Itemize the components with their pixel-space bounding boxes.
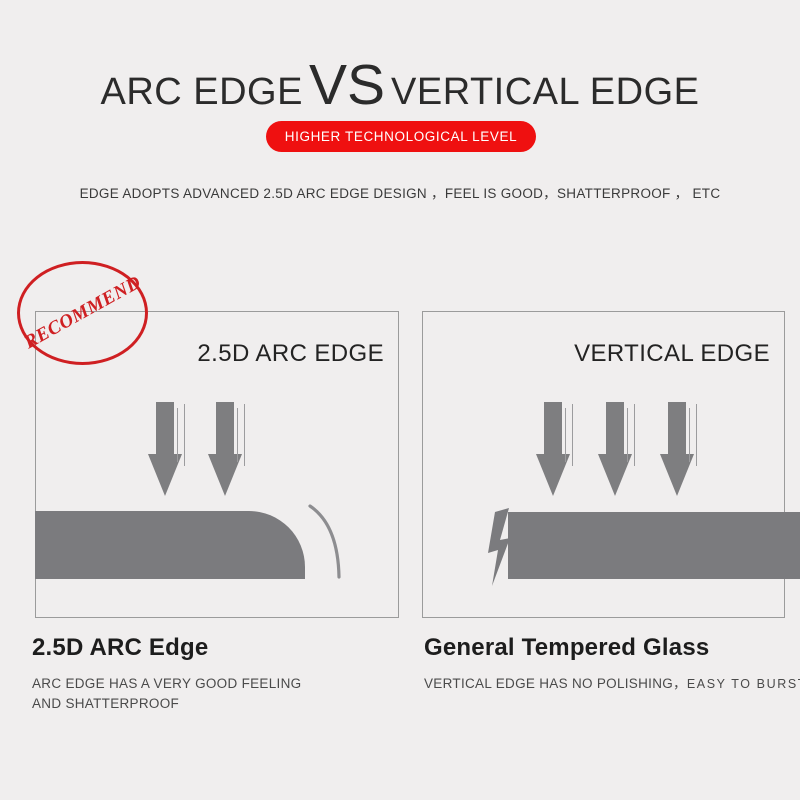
infographic-canvas: ARC EDGEVSVERTICAL EDGE HIGHER TECHNOLOG… [0, 0, 800, 800]
subtitle-text: EDGE ADOPTS ADVANCED 2.5D ARC EDGE DESIG… [0, 182, 800, 202]
caption-tempered-glass-title: General Tempered Glass [424, 634, 800, 662]
caption-tempered-glass-description: VERTICAL EDGE HAS NO POLISHING，EASY TO B… [424, 674, 800, 694]
recommend-stamp: RECOMMEND [17, 261, 148, 365]
page-title: ARC EDGEVSVERTICAL EDGE [0, 52, 800, 118]
shattered-shard-icon [482, 506, 522, 588]
status-badge-label: HIGHER TECHNOLOGICAL LEVEL [285, 129, 517, 144]
caption-tempered-glass-line2: EASY TO BURST [687, 677, 800, 691]
panel-arc-edge-heading: 2.5D ARC EDGE [197, 340, 384, 368]
arrow-shaft [216, 402, 234, 458]
caption-tempered-glass: General Tempered Glass VERTICAL EDGE HAS… [424, 634, 800, 694]
arrow-shaft [156, 402, 174, 458]
pressure-arrow [148, 402, 194, 494]
arrow-shaft [606, 402, 624, 458]
arc-curve-line [292, 503, 352, 583]
title-vs-text: VS [303, 53, 391, 117]
recommend-stamp-label: RECOMMEND [20, 272, 145, 354]
caption-arc-edge-title: 2.5D ARC Edge [32, 634, 301, 662]
arrow-shaft [668, 402, 686, 458]
caption-arc-edge-description: ARC EDGE HAS A VERY GOOD FEELING AND SHA… [32, 674, 301, 714]
arrow-shaft [544, 402, 562, 458]
caption-tempered-glass-line1: VERTICAL EDGE HAS NO POLISHING， [424, 676, 687, 691]
caption-arc-edge: 2.5D ARC Edge ARC EDGE HAS A VERY GOOD F… [32, 634, 301, 714]
status-badge: HIGHER TECHNOLOGICAL LEVEL [266, 121, 536, 152]
arc-edge-glass-bar [35, 511, 305, 579]
caption-arc-edge-line2: AND SHATTERPROOF [32, 694, 301, 714]
pressure-arrow [536, 402, 582, 494]
panel-vertical-edge-heading: VERTICAL EDGE [574, 340, 770, 368]
title-right-text: VERTICAL EDGE [391, 71, 699, 113]
pressure-arrow [660, 402, 706, 494]
pressure-arrow [208, 402, 254, 494]
pressure-arrow [598, 402, 644, 494]
vertical-edge-glass-bar [508, 512, 800, 579]
title-left-text: ARC EDGE [100, 71, 302, 113]
caption-arc-edge-line1: ARC EDGE HAS A VERY GOOD FEELING [32, 674, 301, 694]
